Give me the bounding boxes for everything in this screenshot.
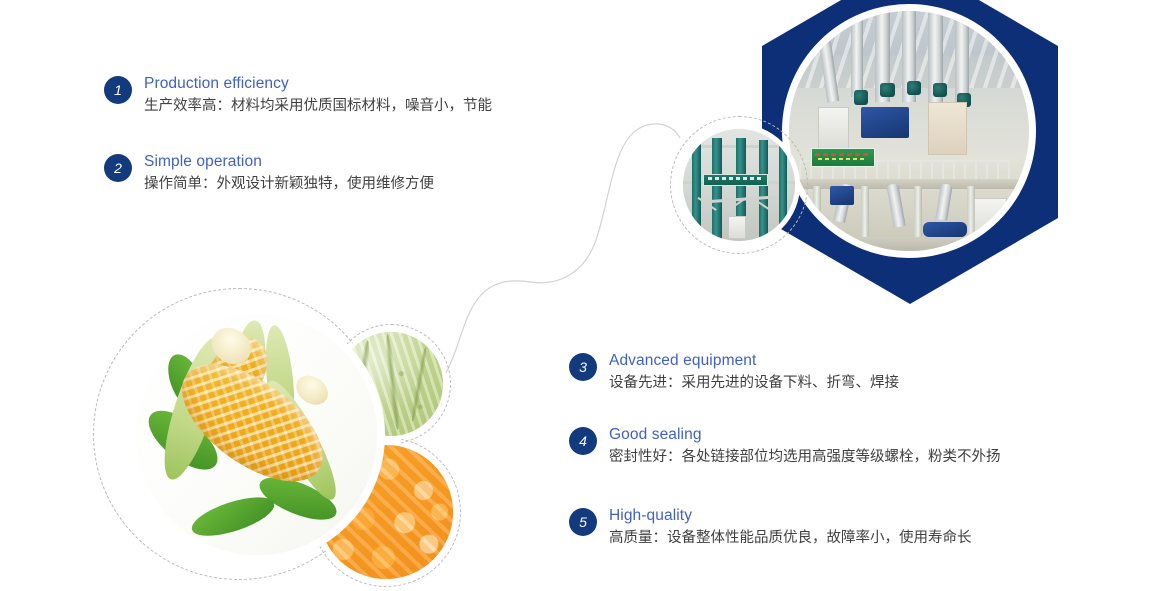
feature-number-badge: 1	[104, 76, 132, 104]
flour-milling-plant-photo	[782, 4, 1036, 258]
feature-description: 操作简单：外观设计新颖独特，使用维修方便	[144, 173, 434, 195]
feature-text-block: Advanced equipment 设备先进：采用先进的设备下料、折弯、焊接	[609, 351, 899, 394]
feature-item-2: 2 Simple operation 操作简单：外观设计新颖独特，使用维修方便	[104, 152, 434, 195]
feature-text-block: High-quality 高质量：设备整体性能品质优良，故障率小，使用寿命长	[609, 506, 972, 549]
feature-title: High-quality	[609, 506, 972, 526]
feature-text-block: Simple operation 操作简单：外观设计新颖独特，使用维修方便	[144, 152, 434, 195]
teal-machinery-photo	[678, 124, 800, 246]
feature-title: Production efficiency	[144, 74, 492, 94]
feature-description: 高质量：设备整体性能品质优良，故障率小，使用寿命长	[609, 527, 972, 549]
feature-item-4: 4 Good sealing 密封性好：各处链接部位均选用高强度等级螺栓，粉类不…	[569, 425, 1001, 468]
feature-item-1: 1 Production efficiency 生产效率高：材料均采用优质国标材…	[104, 74, 492, 117]
feature-text-block: Good sealing 密封性好：各处链接部位均选用高强度等级螺栓，粉类不外扬	[609, 425, 1001, 468]
feature-number-badge: 3	[569, 353, 597, 381]
feature-description: 设备先进：采用先进的设备下料、折弯、焊接	[609, 372, 899, 394]
feature-title: Good sealing	[609, 425, 1001, 445]
feature-item-5: 5 High-quality 高质量：设备整体性能品质优良，故障率小，使用寿命长	[569, 506, 972, 549]
feature-item-3: 3 Advanced equipment 设备先进：采用先进的设备下料、折弯、焊…	[569, 351, 899, 394]
feature-text-block: Production efficiency 生产效率高：材料均采用优质国标材料，…	[144, 74, 492, 117]
feature-title: Simple operation	[144, 152, 434, 172]
feature-number-badge: 5	[569, 508, 597, 536]
feature-description: 生产效率高：材料均采用优质国标材料，噪音小，节能	[144, 95, 492, 117]
feature-showcase-banner: 1 Production efficiency 生产效率高：材料均采用优质国标材…	[0, 0, 1154, 591]
feature-title: Advanced equipment	[609, 351, 899, 371]
feature-number-badge: 2	[104, 154, 132, 182]
feature-number-badge: 4	[569, 427, 597, 455]
corn-cob-photo	[129, 307, 385, 563]
feature-description: 密封性好：各处链接部位均选用高强度等级螺栓，粉类不外扬	[609, 446, 1001, 468]
